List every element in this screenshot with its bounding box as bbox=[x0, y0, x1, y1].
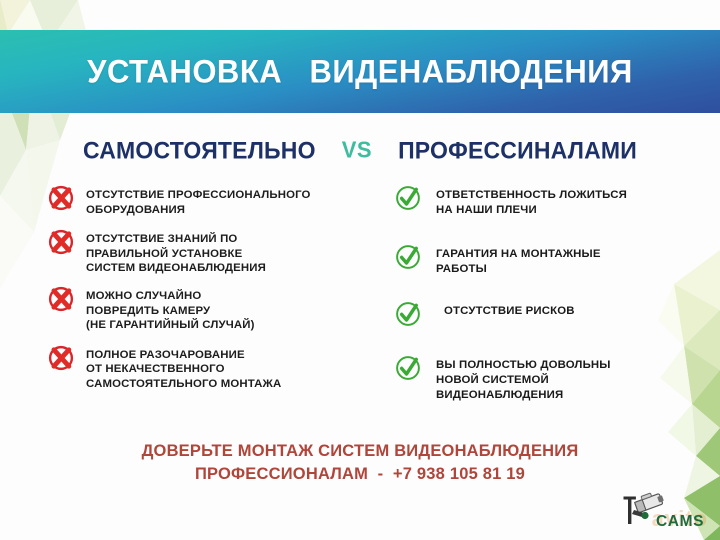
list-item: ВЫ ПОЛНОСТЬЮ ДОВОЛЬНЫ НОВОЙ СИСТЕМОЙ ВИД… bbox=[393, 356, 720, 402]
decorative-polygons-topleft bbox=[0, 0, 70, 34]
list-item: МОЖНО СЛУЧАЙНО ПОВРЕДИТЬ КАМЕРУ (НЕ ГАРА… bbox=[46, 287, 385, 333]
footer-cta-line-1: ДОВЕРЬТЕ МОНТАЖ СИСТЕМ ВИДЕОНАБЛЮДЕНИЯ bbox=[0, 440, 720, 463]
green-check-circle-icon bbox=[393, 299, 423, 329]
green-check-circle-icon bbox=[393, 242, 423, 272]
comparison-heading-left: САМОСТОЯТЕЛЬНО bbox=[83, 136, 316, 164]
red-cross-circle-icon bbox=[46, 183, 76, 213]
comparison-heading-vs: VS bbox=[342, 136, 372, 163]
list-item-label: МОЖНО СЛУЧАЙНО ПОВРЕДИТЬ КАМЕРУ (НЕ ГАРА… bbox=[86, 287, 255, 333]
red-cross-circle-icon bbox=[46, 284, 76, 314]
list-item: ОТСУТСТВИЕ ПРОФЕССИОНАЛЬНОГО ОБОРУДОВАНИ… bbox=[46, 186, 385, 217]
list-item-label: ОТСУТСТВИЕ ЗНАНИЙ ПО ПРАВИЛЬНОЙ УСТАНОВК… bbox=[86, 230, 266, 276]
pros-column: ОТВЕТСТВЕННОСТЬ ЛОЖИТЬСЯ НА НАШИ ПЛЕЧИ Г… bbox=[385, 186, 720, 421]
list-item: ГАРАНТИЯ НА МОНТАЖНЫЕ РАБОТЫ bbox=[393, 245, 720, 276]
list-item-label: ВЫ ПОЛНОСТЬЮ ДОВОЛЬНЫ НОВОЙ СИСТЕМОЙ ВИД… bbox=[436, 356, 611, 402]
list-item: ОТСУТСТВИЕ РИСКОВ bbox=[393, 302, 720, 329]
list-item: ОТСУТСТВИЕ ЗНАНИЙ ПО ПРАВИЛЬНОЙ УСТАНОВК… bbox=[46, 230, 385, 276]
footer-cta: ДОВЕРЬТЕ МОНТАЖ СИСТЕМ ВИДЕОНАБЛЮДЕНИЯ П… bbox=[0, 440, 720, 486]
red-cross-circle-icon bbox=[46, 227, 76, 257]
comparison-heading: САМОСТОЯТЕЛЬНО VS ПРОФЕССИНАЛАМИ bbox=[0, 132, 720, 168]
cams-logo-text: CAMS bbox=[656, 513, 704, 530]
poster-canvas: УСТАНОВКА ВИДЕНАБЛЮДЕНИЯ САМОСТОЯТЕЛЬНО … bbox=[0, 0, 720, 540]
page-title: УСТАНОВКА ВИДЕНАБЛЮДЕНИЯ bbox=[87, 53, 633, 90]
list-item-label: ГАРАНТИЯ НА МОНТАЖНЫЕ РАБОТЫ bbox=[436, 245, 601, 276]
cons-column: ОТСУТСТВИЕ ПРОФЕССИОНАЛЬНОГО ОБОРУДОВАНИ… bbox=[0, 186, 385, 421]
list-item-label: ПОЛНОЕ РАЗОЧАРОВАНИЕ ОТ НЕКАЧЕСТВЕННОГО … bbox=[86, 346, 281, 392]
footer-cta-line-2[interactable]: ПРОФЕССИОНАЛАМ - +7 938 105 81 19 bbox=[0, 463, 720, 486]
comparison-columns: ОТСУТСТВИЕ ПРОФЕССИОНАЛЬНОГО ОБОРУДОВАНИ… bbox=[0, 186, 720, 421]
list-item: ОТВЕТСТВЕННОСТЬ ЛОЖИТЬСЯ НА НАШИ ПЛЕЧИ bbox=[393, 186, 720, 217]
list-item-label: ОТСУТСТВИЕ РИСКОВ bbox=[436, 302, 575, 319]
cams-logo: CAMS bbox=[604, 488, 712, 534]
list-item-label: ОТСУТСТВИЕ ПРОФЕССИОНАЛЬНОГО ОБОРУДОВАНИ… bbox=[86, 186, 311, 217]
comparison-heading-right: ПРОФЕССИНАЛАМИ bbox=[398, 136, 637, 164]
list-item-label: ОТВЕТСТВЕННОСТЬ ЛОЖИТЬСЯ НА НАШИ ПЛЕЧИ bbox=[436, 186, 627, 217]
green-check-circle-icon bbox=[393, 183, 423, 213]
red-cross-circle-icon bbox=[46, 343, 76, 373]
header-banner: УСТАНОВКА ВИДЕНАБЛЮДЕНИЯ bbox=[0, 30, 720, 113]
list-item: ПОЛНОЕ РАЗОЧАРОВАНИЕ ОТ НЕКАЧЕСТВЕННОГО … bbox=[46, 346, 385, 392]
green-check-circle-icon bbox=[393, 353, 423, 383]
